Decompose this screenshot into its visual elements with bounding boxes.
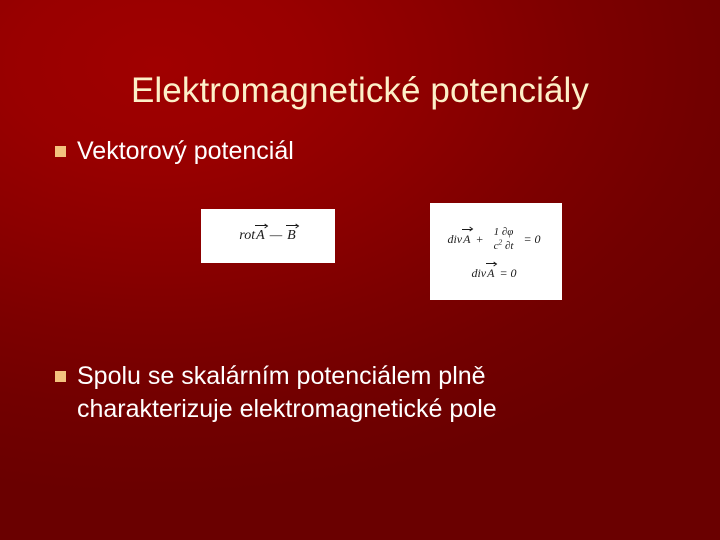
equation-rot-a: rotA—B: [239, 228, 296, 244]
bullet-square-icon: [55, 146, 66, 157]
numerator-one: 1: [494, 226, 500, 238]
equation-lorenz-gauge: divA+ 1 ∂φ c2 ∂t = 0: [447, 226, 544, 253]
denominator-exponent: 2: [498, 237, 502, 246]
vector-b: B: [286, 228, 297, 244]
operator-div: div: [447, 232, 462, 247]
bullet-square-icon: [55, 371, 66, 382]
operator-rot: rot: [239, 228, 255, 244]
bullet-item-2: Spolu se skalárním potenciálem plně char…: [55, 360, 685, 426]
fraction-numerator: 1 ∂φ: [491, 226, 517, 239]
vector-a: A: [255, 228, 266, 244]
formula-image-rot-a: rotA—B: [201, 209, 335, 263]
fraction-denominator: c2 ∂t: [491, 239, 517, 252]
bullet-item-2-label: Spolu se skalárním potenciálem plně char…: [77, 360, 642, 426]
equation-coulomb-gauge: divA= 0: [471, 266, 520, 281]
vector-a: A: [462, 232, 471, 247]
formula-image-gauge-conditions: divA+ 1 ∂φ c2 ∂t = 0 divA= 0: [430, 203, 562, 300]
denominator-partial-t: ∂t: [505, 240, 514, 252]
relation-sign: —: [266, 228, 286, 244]
equals-zero: = 0: [495, 266, 520, 281]
page-title: Elektromagnetické potenciály: [0, 69, 720, 113]
slide-canvas: Elektromagnetické potenciály Vektorový p…: [0, 0, 720, 540]
plus-sign: +: [471, 232, 487, 247]
numerator-partial-phi: ∂φ: [502, 226, 514, 238]
bullet-item-1: Vektorový potenciál: [55, 135, 675, 168]
equals-zero: = 0: [519, 232, 544, 247]
fraction-dphi-dt: 1 ∂φ c2 ∂t: [491, 226, 517, 253]
bullet-item-1-label: Vektorový potenciál: [77, 135, 294, 168]
vector-a: A: [486, 266, 495, 281]
operator-div: div: [471, 266, 486, 281]
